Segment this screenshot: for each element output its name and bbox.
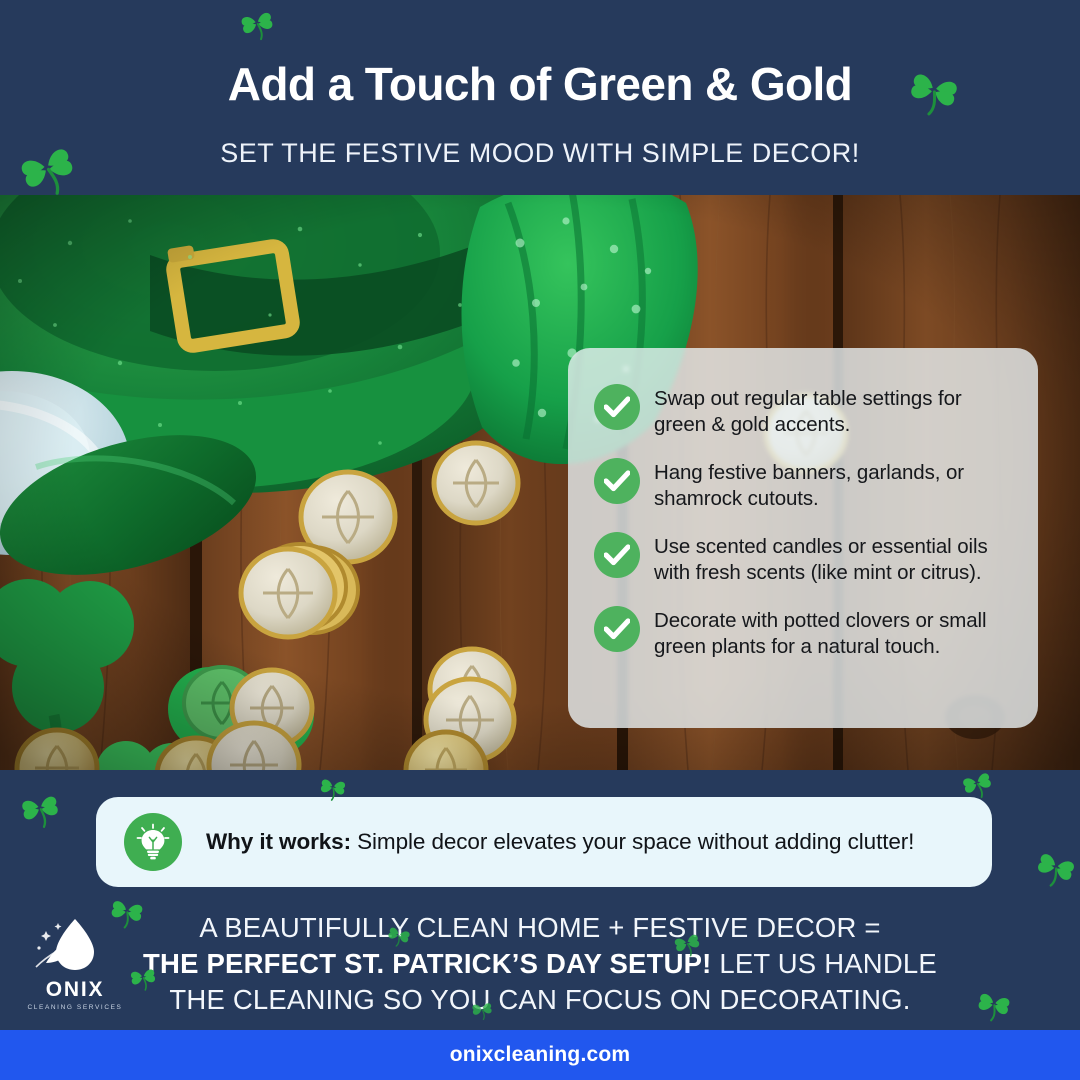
footer-bar: onixcleaning.com (0, 1030, 1080, 1080)
website-url[interactable]: onixcleaning.com (450, 1043, 631, 1067)
tip-item: Use scented candles or essential oils wi… (594, 530, 1012, 587)
cta-line-2-bold: THE PERFECT ST. PATRICK’S DAY SETUP! (143, 948, 711, 979)
poster-canvas: Add a Touch of Green & Gold SET THE FEST… (0, 0, 1080, 1080)
cta-line-2: THE PERFECT ST. PATRICK’S DAY SETUP! LET… (0, 946, 1080, 982)
tips-card: Swap out regular table settings for gree… (568, 348, 1038, 728)
lightbulb-icon (124, 813, 182, 871)
header-band: Add a Touch of Green & Gold SET THE FEST… (0, 0, 1080, 195)
tip-item: Decorate with potted clovers or small gr… (594, 604, 1012, 661)
check-icon (594, 384, 640, 430)
check-icon (594, 532, 640, 578)
cta-block: A BEAUTIFULLY CLEAN HOME + FESTIVE DECOR… (0, 910, 1080, 1017)
brand-logo-tagline: CLEANING SERVICES (22, 1004, 128, 1011)
check-icon (594, 606, 640, 652)
clover-icon (1028, 839, 1080, 894)
check-icon (594, 458, 640, 504)
tip-text: Use scented candles or essential oils wi… (654, 530, 1012, 587)
brand-logo-name: ONIX (22, 979, 128, 1000)
page-title: Add a Touch of Green & Gold (0, 57, 1080, 111)
cta-line-2-rest: LET US HANDLE (712, 948, 937, 979)
tip-item: Hang festive banners, garlands, or shamr… (594, 456, 1012, 513)
cta-line-3: THE CLEANING SO YOU CAN FOCUS ON DECORAT… (0, 982, 1080, 1018)
tip-text: Swap out regular table settings for gree… (654, 382, 1012, 439)
brand-logo: ONIX CLEANING SERVICES (22, 915, 128, 1015)
why-it-works-label: Why it works: (206, 829, 351, 854)
why-it-works-text: Why it works: Simple decor elevates your… (206, 827, 914, 857)
why-it-works-body: Simple decor elevates your space without… (351, 829, 914, 854)
why-it-works-callout: Why it works: Simple decor elevates your… (96, 797, 992, 887)
page-subtitle: SET THE FESTIVE MOOD WITH SIMPLE DECOR! (0, 138, 1080, 169)
water-droplet-leaf-icon (22, 915, 128, 973)
tip-text: Hang festive banners, garlands, or shamr… (654, 456, 1012, 513)
tip-text: Decorate with potted clovers or small gr… (654, 604, 1012, 661)
cta-line-1: A BEAUTIFULLY CLEAN HOME + FESTIVE DECOR… (0, 910, 1080, 946)
tip-item: Swap out regular table settings for gree… (594, 382, 1012, 439)
clover-icon (15, 783, 66, 834)
